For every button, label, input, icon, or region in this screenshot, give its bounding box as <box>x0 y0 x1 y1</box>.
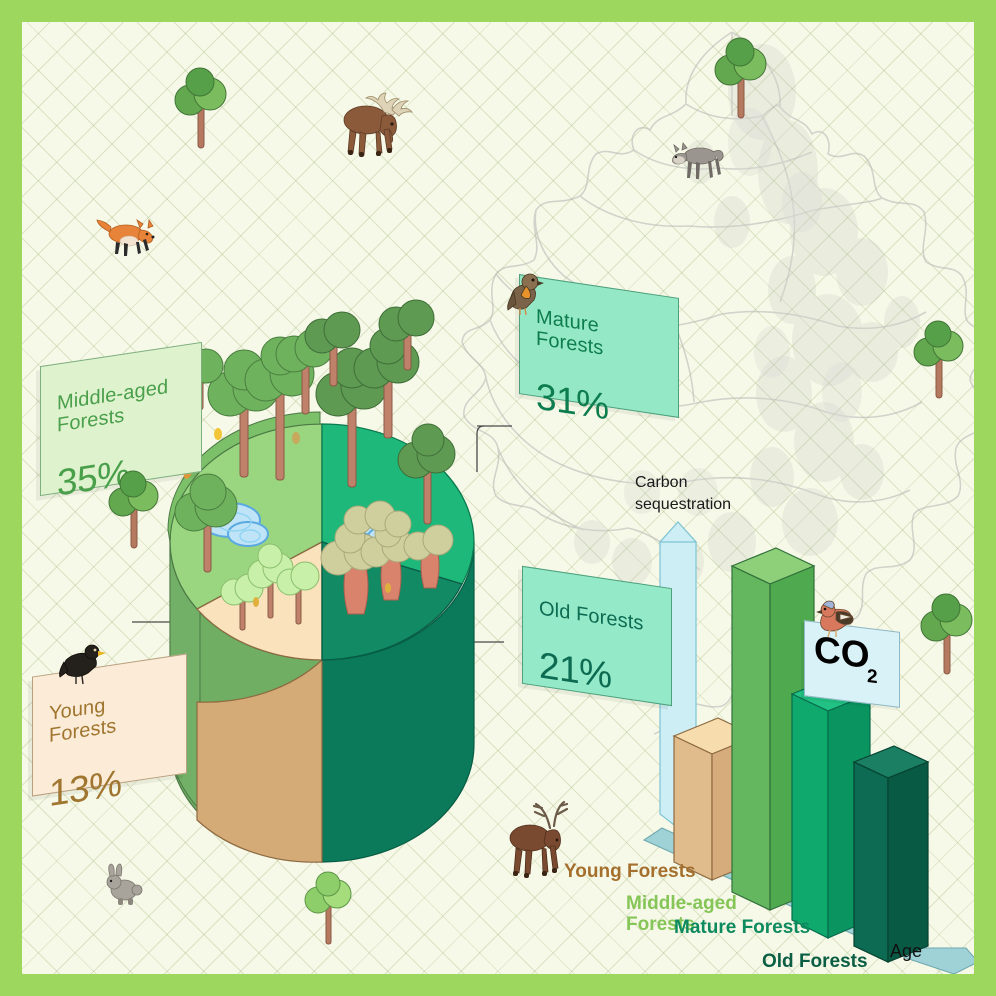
robin-bird-icon <box>504 268 550 318</box>
bar-label-old-forests: Old Forests <box>762 952 868 973</box>
callout-title: Middle-aged Forests <box>57 373 185 437</box>
blackbird-icon <box>58 640 112 688</box>
bar-old-forests <box>854 746 928 962</box>
moose-icon <box>332 84 422 164</box>
callout-title: Mature Forests <box>536 305 662 369</box>
callout-percent: 13% <box>49 755 170 815</box>
tree-icon <box>106 464 162 550</box>
rabbit-icon <box>104 862 148 908</box>
tree-icon <box>302 864 356 946</box>
bar-label-young-forests: Young Forests <box>564 862 696 883</box>
callout-title: Old Forests <box>539 597 655 637</box>
co2-subscript: 2 <box>867 666 878 689</box>
forest-age-pie-chart <box>152 262 492 862</box>
tree-icon <box>910 314 968 400</box>
callout-percent: 21% <box>539 645 655 704</box>
callout-percent: 31% <box>536 375 662 435</box>
lynx-icon <box>670 140 726 186</box>
carbon-sequestration-axis-label: Carbon sequestration <box>635 472 731 515</box>
bar-label-mature-forests: Mature Forests <box>674 918 810 939</box>
tree-icon <box>172 60 230 150</box>
tree-icon <box>918 584 974 674</box>
tree-icon <box>712 30 770 120</box>
bar-label-age-axis: Age <box>890 942 922 961</box>
paper-background: Middle-aged Forests 35% Mature Forests 3… <box>22 22 974 974</box>
callout-title: Young Forests <box>49 685 170 748</box>
fox-icon <box>96 214 160 260</box>
infographic-canvas: Middle-aged Forests 35% Mature Forests 3… <box>0 0 996 996</box>
callout-old-forests[interactable]: Old Forests 21% <box>522 566 672 706</box>
chaffinch-bird-icon <box>814 598 864 642</box>
deer-icon <box>500 794 580 880</box>
